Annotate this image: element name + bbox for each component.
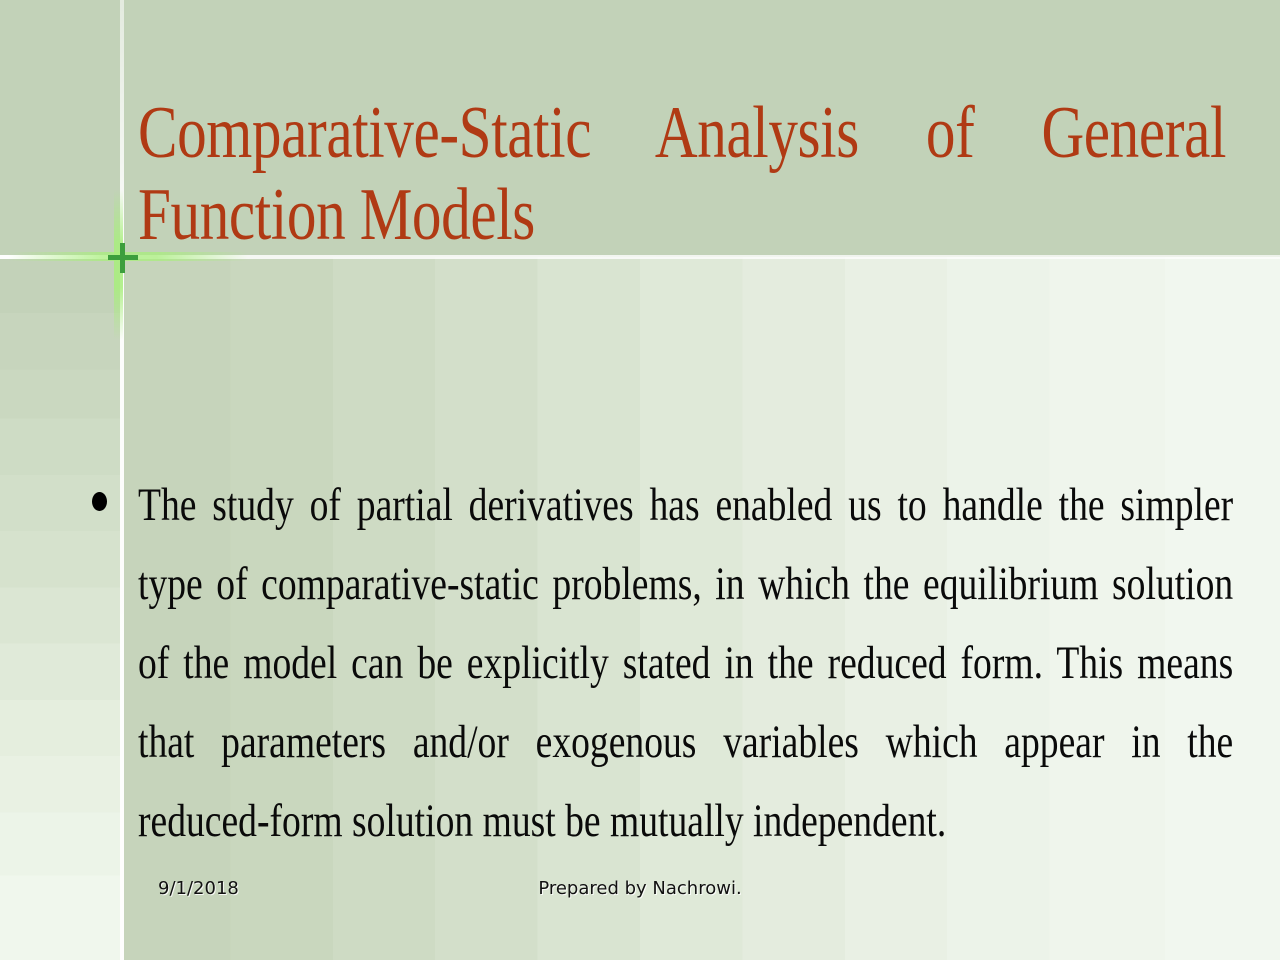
crosshair-vertical-bar (120, 243, 125, 273)
crosshair-plus-icon (108, 243, 138, 273)
body-line: that parameters and/or exogenous variabl… (138, 703, 1233, 782)
footer-credit: Prepared by Nachrowi. (0, 878, 1280, 899)
body-line: The study of partial derivatives has ena… (138, 466, 1233, 545)
body-line: type of comparative-static problems, in … (138, 545, 1233, 624)
slide-title: Comparative-Static Analysis of General F… (138, 92, 1018, 256)
body-line: reduced-form solution must be mutually i… (138, 782, 1233, 861)
slide-title-line-1: Comparative-Static Analysis of General (138, 92, 1226, 174)
presentation-slide: Comparative-Static Analysis of General F… (0, 0, 1280, 960)
slide-body-text: The study of partial derivatives has ena… (138, 466, 1233, 861)
bullet-point-icon (92, 492, 107, 511)
slide-body-block: The study of partial derivatives has ena… (138, 466, 1233, 861)
body-line: of the model can be explicitly stated in… (138, 624, 1233, 703)
vertical-divider-rule (120, 0, 124, 960)
background-left-strip-gradient (0, 257, 120, 960)
slide-title-line-2: Function Models (138, 174, 1018, 256)
